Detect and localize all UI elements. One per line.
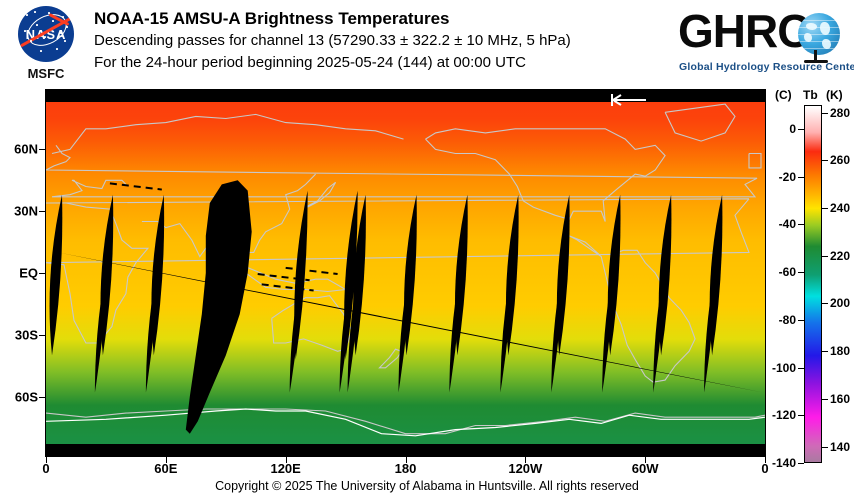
latitude-label: 30N: [2, 204, 38, 219]
ghrc-tagline: Global Hydrology Resource Center: [679, 61, 854, 73]
colorbar-celsius-tick: [798, 320, 804, 321]
latitude-axis: 60N30NEQ30S60S: [0, 0, 38, 502]
latitude-label: 60S: [2, 389, 38, 404]
colorbar-celsius-header: (C): [775, 88, 792, 102]
ghrc-logo: GHRC Global Hydrology Resource Center: [676, 4, 848, 80]
latitude-label: 30S: [2, 327, 38, 342]
colorbar-kelvin-tick: [822, 160, 828, 161]
colorbar-celsius-tick: [798, 129, 804, 130]
colorbar-celsius-tick: [798, 272, 804, 273]
colorbar-kelvin-label: 220: [830, 249, 850, 263]
colorbar-kelvin-label: 180: [830, 344, 850, 358]
left-arrow-icon: [608, 92, 648, 108]
latitude-tick: [39, 335, 45, 336]
colorbar-kelvin-label: 200: [830, 296, 850, 310]
longitude-tick: [765, 457, 766, 463]
colorbar-kelvin-label: 280: [830, 106, 850, 120]
colorbar-celsius-label: -60: [768, 265, 796, 279]
brightness-temperature-field: [46, 90, 765, 456]
page-title: NOAA-15 AMSU-A Brightness Temperatures: [94, 8, 674, 30]
longitude-tick: [46, 457, 47, 463]
latitude-tick: [39, 273, 45, 274]
copyright-notice: Copyright © 2025 The University of Alaba…: [0, 479, 854, 493]
colorbar-celsius-label: -140: [768, 456, 796, 470]
colorbar-celsius-tick: [798, 224, 804, 225]
ghrc-wordmark: GHRC: [678, 4, 809, 58]
longitude-label: 120W: [508, 461, 542, 476]
colorbar-kelvin-label: 260: [830, 153, 850, 167]
title-block: NOAA-15 AMSU-A Brightness Temperatures D…: [94, 8, 674, 74]
colorbar-celsius-tick: [798, 415, 804, 416]
colorbar-celsius-label: -120: [768, 408, 796, 422]
latitude-tick: [39, 397, 45, 398]
longitude-tick: [645, 457, 646, 463]
orbit-gap: [50, 195, 63, 356]
longitude-tick: [406, 457, 407, 463]
north-pole-nodata-band: [46, 90, 765, 102]
south-pole-nodata-band: [46, 444, 765, 456]
colorbar-celsius-tick: [798, 177, 804, 178]
colorbar-kelvin-header: (K): [826, 88, 843, 102]
latitude-tick: [39, 211, 45, 212]
colorbar-kelvin-tick: [822, 399, 828, 400]
longitude-label: 120E: [270, 461, 300, 476]
orbit-gap-overlay: [46, 90, 765, 456]
longitude-tick: [286, 457, 287, 463]
longitude-label: 60W: [632, 461, 659, 476]
map-canvas[interactable]: [46, 90, 765, 456]
globe-icon: [798, 13, 840, 55]
latitude-label: EQ: [2, 266, 38, 281]
longitude-tick: [525, 457, 526, 463]
latitude-label: 60N: [2, 142, 38, 157]
scanline-gap: [286, 268, 338, 274]
colorbar-kelvin-label: 160: [830, 392, 850, 406]
colorbar-celsius-label: 0: [768, 122, 796, 136]
colorbar-celsius-label: -40: [768, 217, 796, 231]
colorbar-kelvin-tick: [822, 447, 828, 448]
large-data-void: [186, 180, 252, 433]
colorbar-celsius-tick: [798, 463, 804, 464]
colorbar-kelvin-tick: [822, 256, 828, 257]
page-subtitle-period: For the 24-hour period beginning 2025-05…: [94, 52, 674, 74]
colorbar-variable-header: Tb: [803, 88, 818, 102]
longitude-label: 0: [42, 461, 49, 476]
colorbar-celsius-label: -100: [768, 361, 796, 375]
longitude-label: 180: [395, 461, 417, 476]
colorbar-celsius-label: -20: [768, 170, 796, 184]
latitude-tick: [39, 149, 45, 150]
colorbar-kelvin-tick: [822, 351, 828, 352]
longitude-label: 60E: [154, 461, 177, 476]
colorbar-kelvin-tick: [822, 303, 828, 304]
colorbar-kelvin-tick: [822, 113, 828, 114]
page-subtitle-channel: Descending passes for channel 13 (57290.…: [94, 30, 674, 52]
colorbar-celsius-tick: [798, 368, 804, 369]
colorbar-kelvin-tick: [822, 208, 828, 209]
colorbar-celsius-label: -80: [768, 313, 796, 327]
colorbar[interactable]: [804, 105, 822, 463]
colorbar-kelvin-label: 140: [830, 440, 850, 454]
scanline-gap: [110, 183, 162, 189]
colorbar-gradient: [804, 105, 822, 463]
scanline-gap: [262, 284, 314, 290]
longitude-tick: [166, 457, 167, 463]
colorbar-kelvin-label: 240: [830, 201, 850, 215]
